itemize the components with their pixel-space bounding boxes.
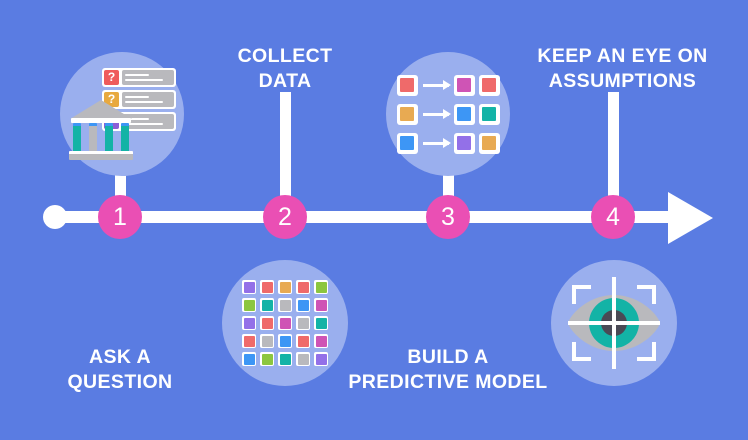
grid-cell	[260, 352, 274, 366]
source-swatch	[397, 75, 418, 96]
building-base	[69, 151, 133, 160]
timeline-arrow-icon	[668, 192, 713, 244]
icon-bubble-step-1: ? ? ?	[60, 52, 184, 176]
transform-row	[397, 104, 500, 125]
question-mark-icon-1: ?	[104, 70, 119, 85]
grid-cell	[314, 352, 328, 366]
transform-arrows-icon	[397, 75, 500, 154]
step-label-3: BUILD A PREDICTIVE MODEL	[348, 345, 548, 395]
icon-bubble-step-3	[386, 52, 510, 176]
institution-building-icon	[70, 100, 132, 160]
focus-bracket-bl	[572, 342, 591, 361]
step-label-4: KEEP AN EYE ON ASSUMPTIONS	[520, 44, 725, 94]
focus-bracket-br	[637, 342, 656, 361]
data-grid-icon	[242, 280, 328, 366]
step-node-1[interactable]: 1	[98, 195, 142, 239]
step-label-2: COLLECT DATA	[200, 44, 370, 94]
building-column	[121, 123, 129, 154]
step-number-4: 4	[606, 205, 620, 230]
source-swatch	[397, 133, 418, 154]
source-swatch	[397, 104, 418, 125]
building-column	[89, 123, 97, 154]
step-number-1: 1	[113, 205, 127, 230]
focus-bracket-tr	[637, 285, 656, 304]
grid-cell	[278, 334, 292, 348]
target-swatch	[479, 75, 500, 96]
step-node-2[interactable]: 2	[263, 195, 307, 239]
transform-row	[397, 75, 500, 96]
grid-cell	[242, 280, 256, 294]
icon-bubble-step-4	[551, 260, 677, 386]
card-text-lines-1	[122, 70, 174, 85]
focus-bracket-tl	[572, 285, 591, 304]
transform-row	[397, 133, 500, 154]
target-swatch	[479, 133, 500, 154]
timeline-start-dot	[43, 205, 67, 229]
step-label-1: ASK A QUESTION	[30, 345, 210, 395]
question-card-1: ?	[102, 68, 176, 87]
building-columns	[73, 123, 129, 151]
timeline-bar	[48, 211, 678, 223]
grid-cell	[242, 352, 256, 366]
target-swatch	[479, 104, 500, 125]
target-swatch	[454, 133, 475, 154]
grid-cell	[260, 280, 274, 294]
arrow-right-icon	[423, 142, 449, 145]
crosshair-horizontal	[568, 321, 660, 325]
infographic-canvas: ? ? ?	[0, 0, 748, 440]
step-node-4[interactable]: 4	[591, 195, 635, 239]
eye-target-icon	[566, 275, 662, 371]
building-column	[105, 123, 113, 154]
grid-cell	[260, 298, 274, 312]
building-column	[73, 123, 81, 154]
grid-cell	[296, 280, 310, 294]
grid-cell	[242, 316, 256, 330]
grid-cell	[242, 334, 256, 348]
grid-cell	[296, 316, 310, 330]
grid-cell	[314, 334, 328, 348]
step-number-2: 2	[278, 205, 292, 230]
grid-cell	[296, 334, 310, 348]
target-swatch	[454, 75, 475, 96]
institution-question-icon: ? ? ?	[70, 68, 174, 160]
grid-cell	[260, 316, 274, 330]
grid-cell	[296, 298, 310, 312]
step-node-3[interactable]: 3	[426, 195, 470, 239]
arrow-right-icon	[423, 113, 449, 116]
building-roof	[70, 100, 132, 119]
grid-cell	[296, 352, 310, 366]
grid-cell	[314, 298, 328, 312]
arrow-right-icon	[423, 84, 449, 87]
grid-cell	[278, 298, 292, 312]
grid-cell	[314, 316, 328, 330]
grid-cell	[260, 334, 274, 348]
step-number-3: 3	[441, 205, 455, 230]
grid-cell	[278, 316, 292, 330]
grid-cell	[278, 280, 292, 294]
grid-cell	[278, 352, 292, 366]
target-swatch	[454, 104, 475, 125]
grid-cell	[242, 298, 256, 312]
icon-bubble-step-2	[222, 260, 348, 386]
grid-cell	[314, 280, 328, 294]
